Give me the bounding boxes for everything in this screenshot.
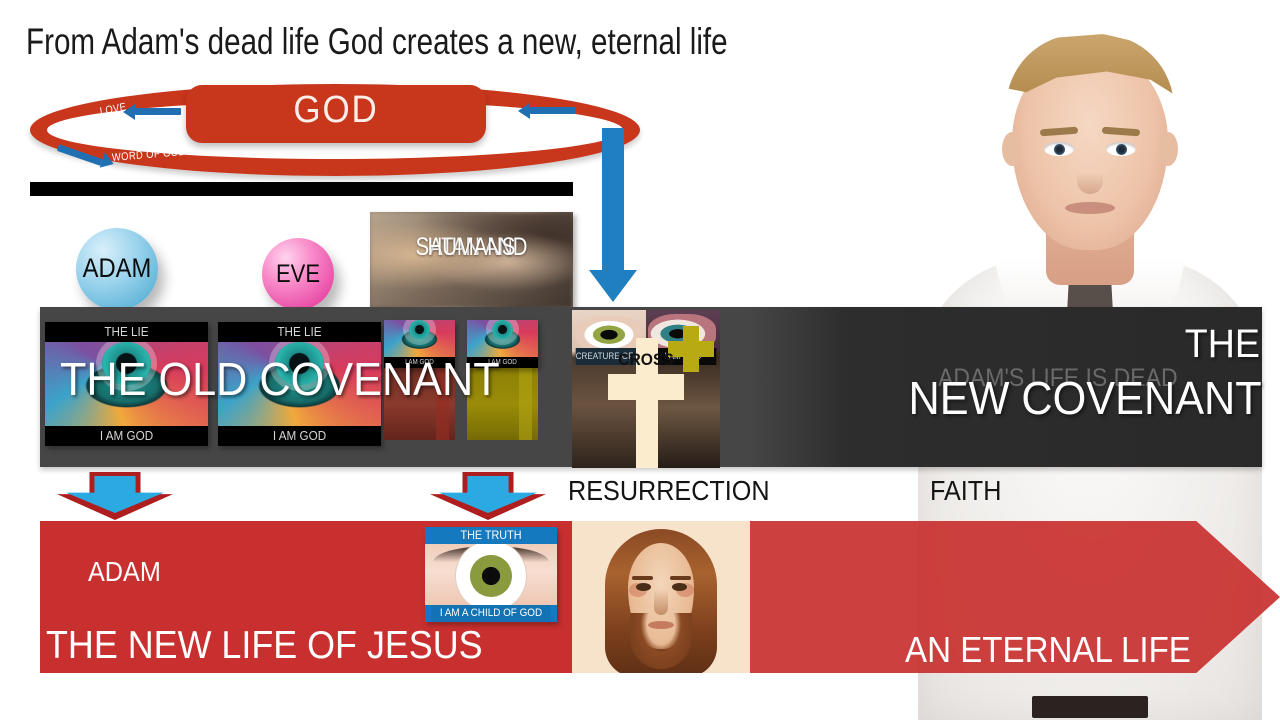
- down-arrow-icon-2: [430, 472, 546, 520]
- presenter-ear-right: [1158, 132, 1178, 166]
- god-box: GOD: [186, 85, 486, 143]
- presenter-eye-left: [1044, 142, 1074, 156]
- truth-card: THE TRUTH I AM A CHILD OF GOD: [425, 527, 557, 622]
- faith-label: FAITH: [930, 475, 1001, 507]
- jesus-eye-left: [636, 583, 651, 591]
- truth-card-bottom: I AM A CHILD OF GOD: [432, 605, 551, 622]
- adam-sphere: ADAM: [76, 228, 158, 310]
- cross-group: CREATURE OF GOD I AM GOD CROSS: [572, 310, 720, 468]
- jesus-nose: [654, 589, 668, 615]
- slide-canvas: From Adam's dead life God creates a new,…: [0, 0, 1280, 720]
- satan-and-humans-image: SATAN ANDHUMANS: [370, 212, 573, 308]
- new-life-adam-label: ADAM: [88, 556, 161, 588]
- down-arrow-icon-1: [57, 472, 173, 520]
- satan-and-humans-label: SATAN ANDHUMANS: [386, 222, 558, 253]
- jesus-eye-right: [672, 583, 687, 591]
- lie-card-1-bottom: I AM GOD: [53, 426, 200, 446]
- presenter-nose: [1077, 158, 1103, 194]
- presenter-pupil-right: [1116, 144, 1127, 155]
- jesus-portrait: [572, 521, 750, 673]
- page-title: From Adam's dead life God creates a new,…: [26, 22, 728, 63]
- jesus-brow-left: [632, 576, 653, 580]
- presenter-mouth: [1065, 202, 1115, 214]
- eve-sphere: EVE: [262, 238, 334, 310]
- presenter-belt: [1032, 696, 1148, 718]
- presenter-ear-left: [1002, 132, 1022, 166]
- new-covenant-heading: NEW COVENANT: [909, 371, 1262, 425]
- truth-card-eye-image: [425, 544, 557, 605]
- lie-card-1-top: THE LIE: [53, 322, 200, 342]
- lie-card-2-top: THE LIE: [226, 322, 373, 342]
- adam-sphere-label: ADAM: [81, 253, 153, 284]
- god-box-label: GOD: [198, 89, 474, 132]
- jesus-mouth: [648, 621, 674, 629]
- eternal-life-label: AN ETERNAL LIFE: [905, 629, 1191, 671]
- black-divider-bar: [30, 182, 573, 196]
- resurrection-label: RESURRECTION: [568, 475, 770, 507]
- jesus-brow-right: [670, 576, 691, 580]
- new-life-heading: THE NEW LIFE OF JESUS: [46, 624, 483, 668]
- presenter-eye-right: [1106, 142, 1136, 156]
- eye-iris: [470, 555, 512, 597]
- lie-card-2-bottom: I AM GOD: [226, 426, 373, 446]
- new-covenant-the-label: THE: [1185, 322, 1260, 367]
- presenter-pupil-left: [1054, 144, 1065, 155]
- cross-label: CROSS: [578, 350, 714, 370]
- truth-card-top: THE TRUTH: [432, 527, 551, 544]
- eve-sphere-label: EVE: [266, 260, 329, 289]
- old-covenant-heading: THE OLD COVENANT: [60, 352, 500, 406]
